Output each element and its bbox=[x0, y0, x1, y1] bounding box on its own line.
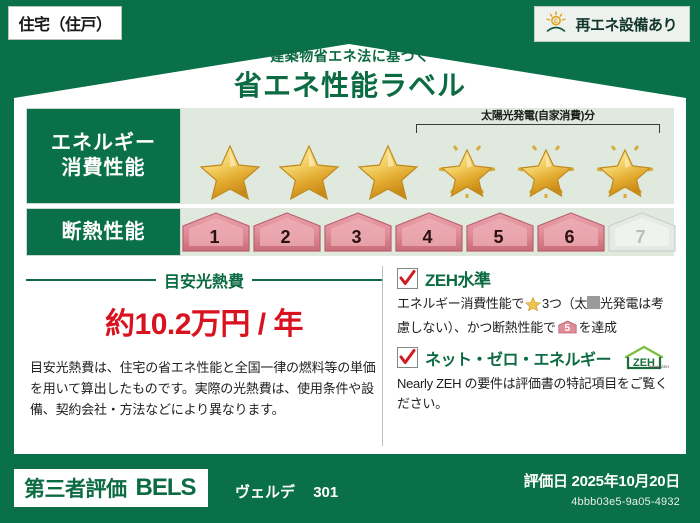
label-content: エネルギー 消費性能 太陽光発電(自家消費)分 bbox=[26, 108, 674, 446]
house-badge-icon: 5 bbox=[558, 319, 577, 335]
insulation-level-item: 2 bbox=[252, 211, 319, 253]
insulation-performance-row: 断熱性能 1 bbox=[26, 208, 674, 256]
lower-section: 目安光熱費 約10.2万円 / 年 目安光熱費は、住宅の省エネ性能と全国一律の燃… bbox=[26, 266, 674, 446]
zeh-standard-item: ZEH水準 エネルギー消費性能で3つ（太光発電は考慮しない）、かつ断熱性能で5を… bbox=[397, 266, 674, 339]
house-type-tab: 住宅（住戸） bbox=[8, 6, 122, 40]
checkbox-checked-icon[interactable] bbox=[397, 347, 418, 368]
bels-certification-mark: 第三者評価 BELS bbox=[14, 469, 208, 507]
checkbox-checked-icon[interactable] bbox=[397, 268, 418, 289]
solar-bracket-caption: 太陽光発電(自家消費)分 bbox=[410, 107, 666, 123]
energy-label-line1: エネルギー bbox=[51, 131, 156, 156]
insulation-level-list: 1 2 bbox=[181, 211, 674, 253]
energy-performance-row: エネルギー 消費性能 太陽光発電(自家消費)分 bbox=[26, 108, 674, 204]
house-badge-number: 5 bbox=[558, 323, 577, 335]
zeh-standard-header: ZEH水準 bbox=[397, 266, 674, 291]
zeh-logo-sub: Nearly ZEH bbox=[648, 365, 669, 369]
property-info: ヴェルデ 301 bbox=[235, 481, 338, 502]
star-icon-inline bbox=[525, 296, 541, 318]
utility-cost-value: 約10.2万円 / 年 bbox=[26, 299, 382, 343]
utility-cost-heading: 目安光熱費 bbox=[26, 268, 382, 292]
star-icon bbox=[354, 136, 422, 202]
insulation-level-item: 1 bbox=[181, 211, 248, 253]
solar-generation-bracket: 太陽光発電(自家消費)分 bbox=[410, 109, 666, 135]
renewable-equipment-badge: E 再エネ設備あり bbox=[534, 6, 690, 42]
evaluation-date: 評価日 2025年10月20日 bbox=[524, 470, 680, 491]
zeh-netzero-title: ネット・ゼロ・エネルギー bbox=[425, 346, 611, 370]
zeh-house-logo: ZEH Nearly ZEH bbox=[622, 345, 668, 371]
property-name: ヴェルデ bbox=[235, 484, 295, 501]
utility-cost-note: 目安光熱費は、住宅の省エネ性能と全国一律の燃料等の単価を用いて算出したものです。… bbox=[26, 357, 382, 420]
evaluation-id: 4bbb03e5-9a05-4932 bbox=[571, 496, 680, 508]
insulation-label-text: 断熱性能 bbox=[62, 220, 146, 245]
zeh-body-post: を達成 bbox=[579, 320, 617, 335]
zeh-body-mid: 3つ（太 bbox=[542, 296, 587, 311]
bels-en-label: BELS bbox=[136, 474, 196, 502]
insulation-level-number: 6 bbox=[564, 227, 574, 248]
star-icon-solar bbox=[433, 136, 501, 202]
insulation-levels-panel: 1 2 bbox=[181, 208, 674, 256]
page-title: 省エネ性能ラベル bbox=[0, 64, 700, 104]
insulation-level-item: 6 bbox=[536, 211, 603, 253]
label-footer: 第三者評価 BELS ヴェルデ 301 評価日 2025年10月20日 4bbb… bbox=[0, 454, 700, 523]
svg-text:E: E bbox=[554, 19, 558, 25]
house-type-label: 住宅（住戸） bbox=[18, 11, 111, 35]
utility-cost-section: 目安光熱費 約10.2万円 / 年 目安光熱費は、住宅の省エネ性能と全国一律の燃… bbox=[26, 266, 382, 446]
zeh-netzero-body: Nearly ZEH の要件は評価書の特記項目をご覧ください。 bbox=[397, 374, 674, 416]
insulation-level-item: 5 bbox=[465, 211, 532, 253]
redacted-char-block bbox=[587, 296, 600, 309]
unit-number: 301 bbox=[313, 484, 338, 501]
insulation-level-item: 4 bbox=[394, 211, 461, 253]
bels-jp-label: 第三者評価 bbox=[24, 473, 127, 503]
star-icon-solar bbox=[512, 136, 580, 202]
star-icon-solar bbox=[591, 136, 659, 202]
zeh-netzero-item: ネット・ゼロ・エネルギー ZEH Nearly ZEH Nearly ZEH の… bbox=[397, 345, 674, 416]
zeh-standard-body: エネルギー消費性能で3つ（太光発電は考慮しない）、かつ断熱性能で5を達成 bbox=[397, 294, 674, 339]
insulation-performance-label: 断熱性能 bbox=[26, 208, 181, 256]
star-icon bbox=[196, 136, 264, 202]
insulation-level-number: 2 bbox=[280, 227, 290, 248]
insulation-level-number: 4 bbox=[422, 227, 432, 248]
insulation-level-item-inactive: 7 bbox=[607, 211, 674, 253]
zeh-body-pre: エネルギー消費性能で bbox=[397, 296, 524, 311]
energy-stars-panel: 太陽光発電(自家消費)分 bbox=[181, 108, 674, 204]
energy-performance-label: エネルギー 消費性能 bbox=[26, 108, 181, 204]
zeh-standard-title: ZEH水準 bbox=[425, 266, 491, 291]
energy-label-line2: 消費性能 bbox=[62, 156, 146, 181]
star-icon bbox=[275, 136, 343, 202]
insulation-level-number: 7 bbox=[635, 227, 645, 248]
utility-cost-heading-text: 目安光熱費 bbox=[164, 268, 244, 292]
zeh-section: ZEH水準 エネルギー消費性能で3つ（太光発電は考慮しない）、かつ断熱性能で5を… bbox=[382, 266, 674, 446]
label-subtitle: 建築物省エネ法に基づく bbox=[0, 46, 700, 66]
insulation-level-number: 1 bbox=[209, 227, 219, 248]
energy-star-rating bbox=[181, 136, 674, 202]
insulation-level-number: 3 bbox=[351, 227, 361, 248]
rule-right bbox=[252, 279, 382, 281]
insulation-level-number: 5 bbox=[493, 227, 503, 248]
bels-energy-label: 住宅（住戸） E 再エネ設備あり 建築物省エネ法に基づく 省エネ性能ラベル bbox=[0, 0, 700, 523]
zeh-netzero-header: ネット・ゼロ・エネルギー ZEH Nearly ZEH bbox=[397, 345, 674, 371]
insulation-level-item: 3 bbox=[323, 211, 390, 253]
renewable-badge-label: 再エネ設備あり bbox=[575, 14, 677, 35]
solar-sun-icon: E bbox=[544, 11, 568, 38]
rule-left bbox=[26, 279, 156, 281]
bracket-line bbox=[416, 124, 660, 133]
